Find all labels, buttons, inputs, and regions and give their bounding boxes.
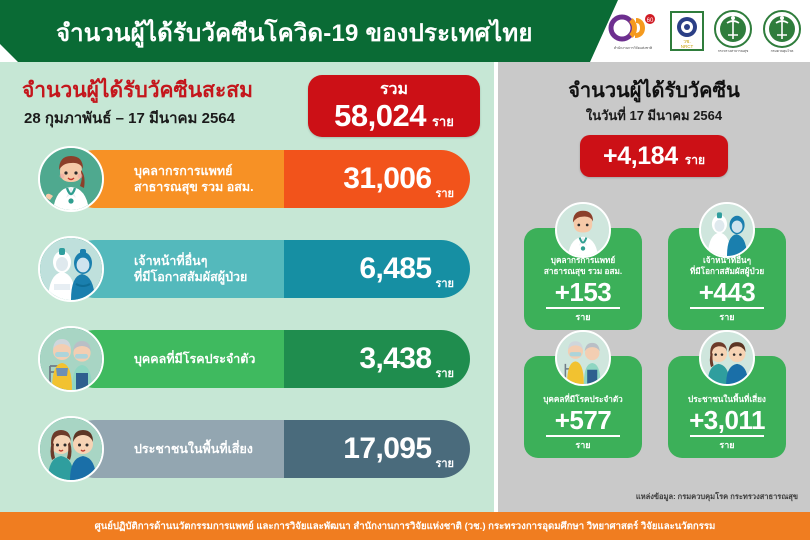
row-unit: ราย	[435, 364, 454, 382]
row-value: 6,485	[359, 254, 431, 284]
daily-total-badge: +4,184 ราย	[580, 135, 728, 177]
list-item: บุคคลที่มีโรคประจำตัว +577 ราย	[524, 356, 642, 458]
cumulative-title: จำนวนผู้ได้รับวัคซีนสะสม	[22, 74, 253, 107]
card-label-line1: ประชาชนในพื้นที่เสี่ยง	[688, 395, 766, 404]
page-title: จำนวนผู้ได้รับวัคซีนโควิด-19 ของประเทศไท…	[56, 13, 576, 52]
card-divider	[546, 307, 620, 309]
list-item: บุคลากรการแพทย์ สาธารณสุข รวม อสม. +153 …	[524, 228, 642, 330]
table-row: เจ้าหน้าที่อื่นๆ ที่มีโอกาสสัมผัสผู้ป่วย…	[38, 238, 470, 300]
row-label: เจ้าหน้าที่อื่นๆ ที่มีโอกาสสัมผัสผู้ป่วย	[134, 253, 247, 285]
daily-card-grid: บุคลากรการแพทย์ สาธารณสุข รวม อสม. +153 …	[524, 228, 786, 458]
card-label-line1: บุคคลที่มีโรคประจำตัว	[543, 395, 623, 404]
row-label-line1: บุคคลที่มีโรคประจำตัว	[134, 352, 255, 366]
daily-total-value: +4,184	[603, 144, 678, 169]
young-couple-avatar-icon	[38, 416, 104, 482]
row-label-line1: บุคลากรการแพทย์	[134, 164, 232, 178]
card-unit: ราย	[575, 438, 590, 452]
row-bar-public: ประชาชนในพื้นที่เสี่ยง 17,095 ราย	[66, 420, 470, 478]
row-label: ประชาชนในพื้นที่เสี่ยง	[134, 441, 253, 457]
row-value: 31,006	[343, 164, 431, 194]
cumulative-date-range: 28 กุมภาพันธ์ – 17 มีนาคม 2564	[24, 106, 235, 130]
nrct-60th-anniversary-logo: 60 สำนักงานการวิจัยแห่งชาติ	[605, 12, 661, 51]
row-label-line2: ที่มีโอกาสสัมผัสผู้ป่วย	[134, 270, 247, 284]
ppe-workers-avatar-icon	[699, 202, 755, 258]
card-unit: ราย	[719, 310, 734, 324]
list-item: เจ้าหน้าที่อื่นๆ ที่มีโอกาสสัมผัสผู้ป่วย…	[668, 228, 786, 330]
row-unit: ราย	[435, 454, 454, 472]
row-value: 17,095	[343, 434, 431, 464]
row-bar-chronic: บุคคลที่มีโรคประจำตัว 3,438 ราย	[66, 330, 470, 388]
elderly-couple-avatar-icon	[38, 326, 104, 392]
table-row: บุคลากรการแพทย์ สาธารณสุข รวม อสม. 31,00…	[38, 148, 470, 210]
row-unit: ราย	[435, 184, 454, 202]
card-unit: ราย	[575, 310, 590, 324]
card-divider	[690, 435, 764, 437]
ministry-of-public-health-logo: กระทรวงสาธารณสุข	[713, 9, 753, 54]
svg-text:NRCT: NRCT	[681, 44, 694, 49]
total-unit: ราย	[432, 111, 454, 132]
young-couple-avatar-icon	[699, 330, 755, 386]
card-divider	[546, 435, 620, 437]
row-label: บุคคลที่มีโรคประจำตัว	[134, 351, 255, 367]
card-label-line2: ที่มีโอกาสสัมผัสผู้ป่วย	[690, 267, 764, 276]
card-value: +3,011	[689, 407, 765, 434]
footer-text: ศูนย์ปฏิบัติการด้านนวัตกรรมการแพทย์ และก…	[95, 519, 716, 534]
cumulative-total-badge: รวม 58,024 ราย	[308, 75, 480, 137]
logo-group: 60 สำนักงานการวิจัยแห่งชาติ วช. NRCT กระ…	[605, 5, 802, 57]
card-unit: ราย	[719, 438, 734, 452]
doctor-avatar-icon	[38, 146, 104, 212]
card-divider	[690, 307, 764, 309]
total-value: 58,024	[334, 100, 426, 131]
table-row: บุคคลที่มีโรคประจำตัว 3,438 ราย	[38, 328, 470, 390]
table-row: ประชาชนในพื้นที่เสี่ยง 17,095 ราย	[38, 418, 470, 480]
elderly-couple-avatar-icon	[555, 330, 611, 386]
card-value: +153	[555, 279, 612, 306]
card-label-line2: สาธารณสุข รวม อสม.	[544, 267, 622, 276]
svg-text:60: 60	[647, 18, 654, 24]
row-unit: ราย	[435, 274, 454, 292]
infographic-root: จำนวนผู้ได้รับวัคซีนโควิด-19 ของประเทศไท…	[0, 0, 810, 540]
source-note: แหล่งข้อมูล: กรมควบคุมโรค กระทรวงสาธารณส…	[636, 491, 798, 503]
row-bar-medical: บุคลากรการแพทย์ สาธารณสุข รวม อสม. 31,00…	[66, 150, 470, 208]
row-label-line2: สาธารณสุข รวม อสม.	[134, 180, 254, 194]
logo-caption: สำนักงานการวิจัยแห่งชาติ	[614, 47, 652, 51]
card-label: เจ้าหน้าที่อื่นๆ ที่มีโอกาสสัมผัสผู้ป่วย	[686, 256, 768, 277]
row-value: 3,438	[359, 344, 431, 374]
logo-caption: กระทรวงสาธารณสุข	[718, 50, 749, 54]
ppe-workers-avatar-icon	[38, 236, 104, 302]
daily-total-unit: ราย	[685, 151, 705, 170]
doctor-avatar-icon	[555, 202, 611, 258]
nrct-logo: วช. NRCT	[670, 11, 704, 51]
row-label: บุคลากรการแพทย์ สาธารณสุข รวม อสม.	[134, 163, 254, 195]
department-of-disease-control-logo: กรมควบคุมโรค	[762, 9, 802, 54]
row-bar-staff: เจ้าหน้าที่อื่นๆ ที่มีโอกาสสัมผัสผู้ป่วย…	[66, 240, 470, 298]
row-label-line1: เจ้าหน้าที่อื่นๆ	[134, 254, 207, 268]
logo-caption: กรมควบคุมโรค	[771, 50, 794, 54]
card-label: บุคลากรการแพทย์ สาธารณสุข รวม อสม.	[540, 256, 626, 277]
daily-title: จำนวนผู้ได้รับวัคซีน	[498, 74, 810, 106]
total-label: รวม	[380, 82, 408, 98]
row-label-line1: ประชาชนในพื้นที่เสี่ยง	[134, 442, 253, 456]
list-item: ประชาชนในพื้นที่เสี่ยง +3,011 ราย	[668, 356, 786, 458]
daily-date: ในวันที่ 17 มีนาคม 2564	[498, 105, 810, 126]
card-value: +577	[555, 407, 612, 434]
footer-bar: ศูนย์ปฏิบัติการด้านนวัตกรรมการแพทย์ และก…	[0, 512, 810, 540]
card-value: +443	[699, 279, 756, 306]
